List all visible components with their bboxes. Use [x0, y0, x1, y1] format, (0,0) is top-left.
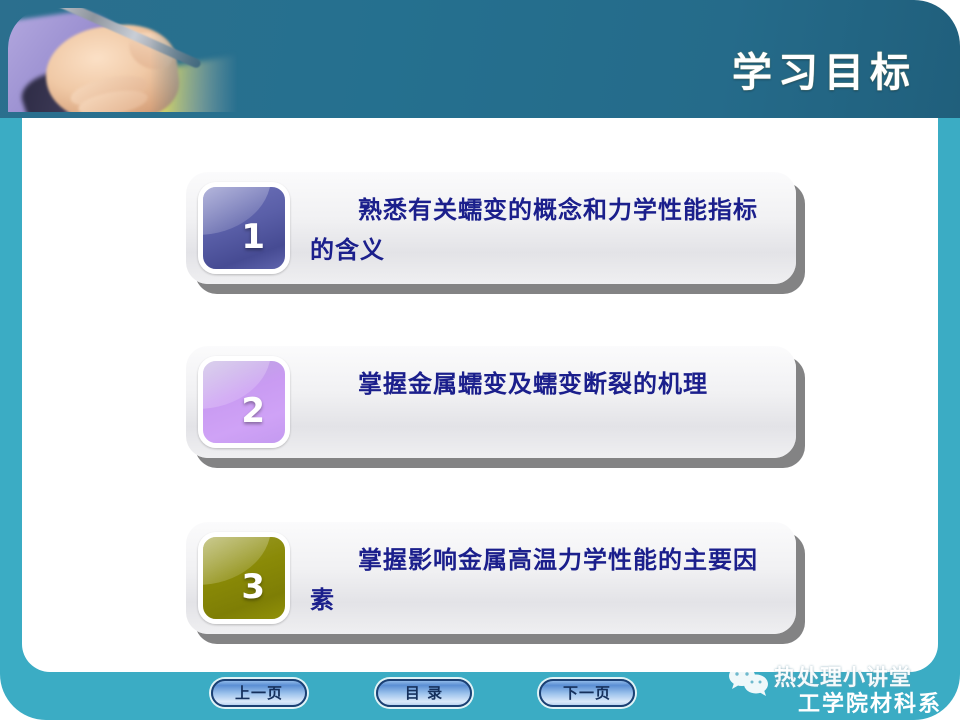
prev-page-button[interactable]: 上一页: [211, 679, 307, 707]
goal-number-badge: 2: [198, 356, 290, 448]
goal-number: 2: [241, 391, 265, 431]
goal-text: 掌握影响金属高温力学性能的主要因素: [310, 540, 780, 620]
goal-number: 1: [241, 217, 265, 257]
frame-left-rail: [0, 118, 22, 638]
table-of-contents-button[interactable]: 目 录: [376, 679, 472, 707]
watermark: 热处理小讲堂 工学院材科系: [726, 660, 956, 720]
next-page-button[interactable]: 下一页: [539, 679, 635, 707]
goal-number-badge: 3: [198, 532, 290, 624]
goal-text: 熟悉有关蠕变的概念和力学性能指标的含义: [310, 190, 780, 270]
goal-box: 3 掌握影响金属高温力学性能的主要因素: [186, 522, 796, 634]
goal-number: 3: [241, 567, 265, 607]
goal-number-badge: 1: [198, 182, 290, 274]
frame-right-rail: [938, 118, 960, 618]
hand-holding-pen-photo: [8, 8, 238, 112]
page-title: 学习目标: [732, 40, 916, 98]
slide-canvas: 学习目标 1 熟悉有关蠕变的概念和力学性能指标的含义 2 掌握金属蠕变及蠕变断裂…: [0, 0, 960, 720]
wechat-icon: [726, 664, 772, 698]
header-banner: 学习目标: [0, 0, 960, 118]
goal-text: 掌握金属蠕变及蠕变断裂的机理: [310, 364, 780, 404]
watermark-department: 工学院材科系: [798, 686, 942, 718]
goal-box: 2 掌握金属蠕变及蠕变断裂的机理: [186, 346, 796, 458]
goal-box: 1 熟悉有关蠕变的概念和力学性能指标的含义: [186, 172, 796, 284]
